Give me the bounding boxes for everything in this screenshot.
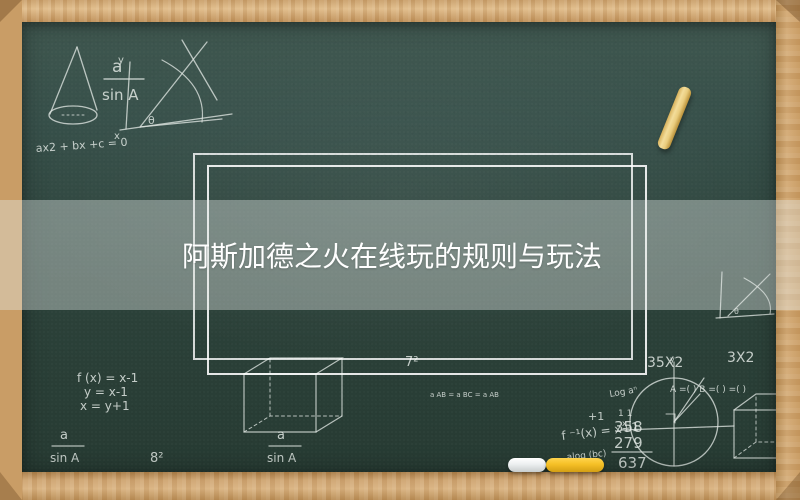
svg-text:+1: +1 [588,410,604,423]
function-equations: f (x) = x-1 y = x-1 x = y+1 [77,371,138,413]
svg-text:f (x) = x-1: f (x) = x-1 [77,371,138,385]
frame-bottom-ledge [0,472,800,500]
svg-text:sin A: sin A [102,86,139,104]
svg-text:y = x-1: y = x-1 [84,385,128,399]
cube-diagram-right [734,394,776,458]
quadratic-equation: ax2 + bx +c = 0 [35,136,128,155]
svg-text:a: a [277,428,285,443]
frame-corner-bottom-left [0,472,22,500]
svg-text:sin A: sin A [50,451,80,465]
cone-diagram [49,47,97,124]
frame-corner-bottom-right [776,472,800,500]
svg-text:sin A: sin A [267,451,297,465]
page-title: 阿斯加德之火在线玩的规则与玩法 [182,200,742,310]
chalk-stick-yellow-icon [546,458,604,472]
law-of-sines-formula-3: a sin A [267,428,301,465]
matrix-dim-1: 35X2 [647,355,683,371]
triangle-relation: a AB = a BC = a AB [430,391,499,399]
chalkboard-banner: a sin A y x θ [0,0,800,500]
svg-text:637: 637 [618,454,647,472]
frame-corner-top-left [0,0,22,22]
exponent-eight: 8² [150,451,163,466]
log-label: Log aⁿ [609,385,639,400]
frame-top-rail [0,0,800,22]
svg-text:a: a [60,428,68,443]
matrix-dim-2: 3X2 [727,350,754,366]
law-of-sines-formula-2: a sin A [50,428,84,465]
svg-text:θ: θ [148,114,155,127]
svg-text:x = y+1: x = y+1 [80,399,130,413]
svg-text:y: y [670,355,675,364]
frame-corner-top-right [776,0,800,22]
svg-text:279: 279 [614,434,643,452]
svg-text:y: y [118,55,124,66]
chalk-stick-white-icon [508,458,546,472]
angle-theta-diagram: θ [140,40,222,127]
